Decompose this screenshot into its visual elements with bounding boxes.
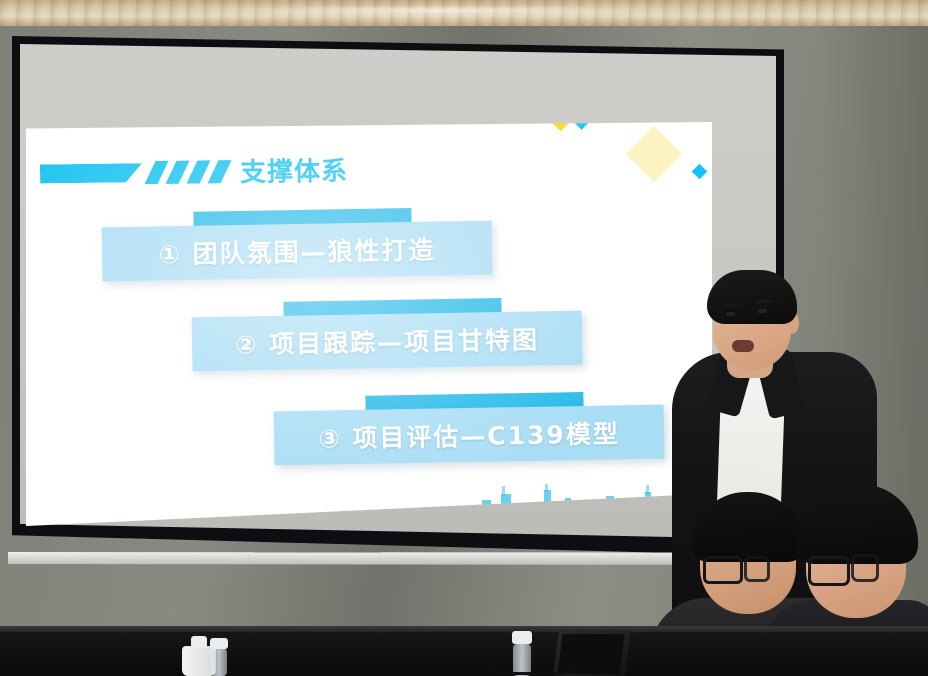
slide-item-1: ① 团队氛围—狼性打造 (101, 207, 492, 286)
slide-title: 支撑体系 (240, 151, 348, 189)
conference-table (0, 632, 928, 676)
ceiling-highlight (180, 8, 700, 13)
attendee-2-glasses-icon (808, 556, 850, 586)
water-bottle-left (211, 648, 227, 676)
item-band-2: ② 项目跟踪—项目甘特图 (192, 311, 583, 372)
diamond-decoration-icon (626, 126, 683, 183)
projected-slide: 支撑体系 ① 团队氛围—狼性打造 ② 项目跟踪—项目甘特图 ③ 项目评估—C13… (26, 122, 712, 526)
screenshot-root: 支撑体系 ① 团队氛围—狼性打造 ② 项目跟踪—项目甘特图 ③ 项目评估—C13… (0, 0, 928, 676)
title-slash-icon (145, 161, 169, 184)
cable (486, 660, 576, 675)
presenter-eye-left (726, 312, 735, 316)
slide-item-3: ③ 项目评估—C139模型 (273, 391, 664, 470)
attendee-2-glasses-lens-icon (851, 554, 879, 582)
title-slash-icon (208, 160, 232, 183)
slide-title-row: 支撑体系 (40, 148, 440, 193)
attendee-1-glasses-icon (703, 556, 743, 584)
presenter-mouth (732, 340, 754, 352)
item-band-3: ③ 项目评估—C139模型 (274, 405, 665, 466)
item-label-2: ② 项目跟踪—项目甘特图 (192, 311, 583, 372)
slide-item-2: ② 项目跟踪—项目甘特图 (191, 297, 582, 376)
title-slash-icon (187, 160, 211, 183)
water-bottle-left-cap (210, 638, 228, 649)
presenter-hair (707, 270, 797, 324)
title-accent-bar-icon (40, 163, 142, 183)
item-label-1: ① 团队氛围—狼性打造 (102, 221, 493, 282)
item-label-3: ③ 项目评估—C139模型 (274, 405, 665, 466)
title-slash-icon (166, 161, 190, 184)
water-bottle-center-cap (512, 631, 532, 644)
projection-screen-weight-bar (8, 552, 788, 565)
paper-cup-lid (191, 636, 207, 648)
attendee-1-glasses-lens-icon (744, 556, 770, 582)
item-band-1: ① 团队氛围—狼性打造 (102, 221, 493, 282)
diamond-cyan-icon (692, 164, 708, 180)
presenter-eye-right (758, 309, 767, 313)
